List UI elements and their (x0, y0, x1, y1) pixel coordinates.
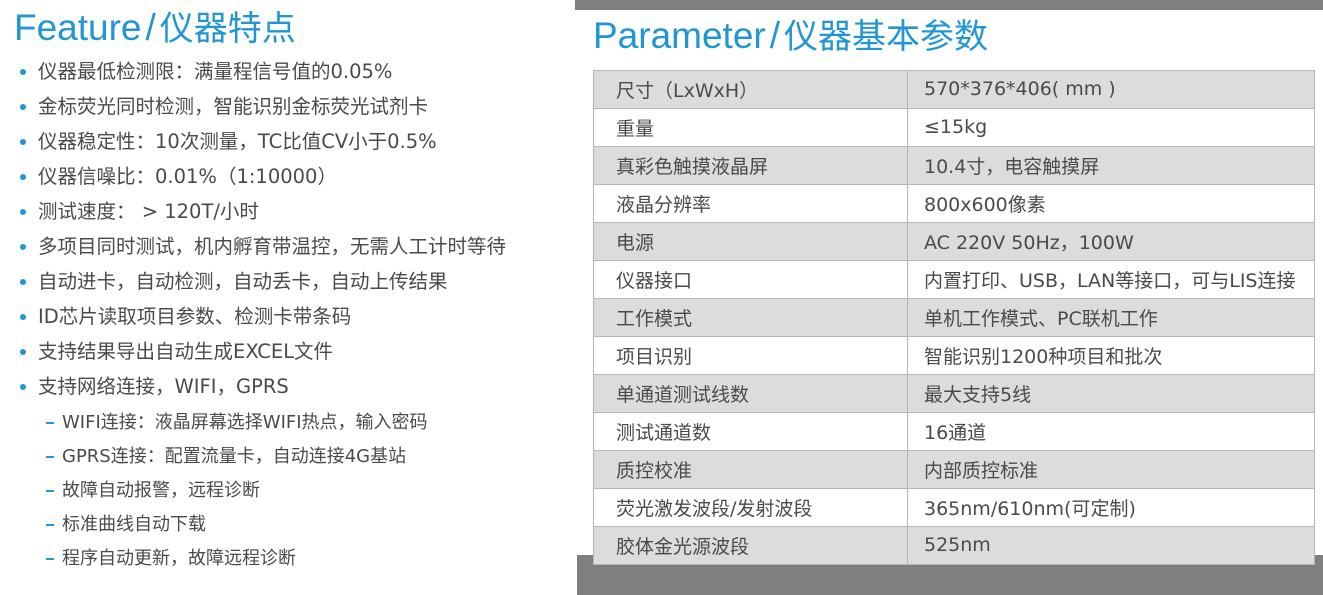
table-row: 质控校准 内部质控标准 (594, 450, 1315, 488)
bullet-dash-icon (46, 558, 54, 560)
table-cell-key: 液晶分辨率 (594, 184, 908, 222)
table-cell-key: 项目识别 (594, 336, 908, 374)
table-cell-value: 单机工作模式、PC联机工作 (908, 298, 1315, 336)
sub-list-item-label: WIFI连接：液晶屏幕选择WIFI热点，输入密码 (62, 412, 428, 433)
table-cell-key: 测试通道数 (594, 412, 908, 450)
bullet-dot-icon (20, 314, 26, 320)
bullet-dash-icon (46, 422, 54, 424)
sub-list-item-label: GPRS连接：配置流量卡，自动连接4G基站 (62, 446, 406, 467)
table-cell-value: 最大支持5线 (908, 374, 1315, 412)
list-item-label: 自动进卡，自动检测，自动丢卡，自动上传结果 (38, 270, 448, 293)
parameter-title-separator: / (766, 15, 784, 56)
table-cell-key: 荧光激发波段/发射波段 (594, 488, 908, 526)
table-cell-key: 胶体金光源波段 (594, 526, 908, 564)
table-row: 胶体金光源波段 525nm (594, 526, 1315, 564)
list-item-label: 仪器稳定性：10次测量，TC比值CV小于0.5% (38, 130, 437, 153)
list-item: 自动进卡，自动检测，自动丢卡，自动上传结果 (14, 266, 575, 297)
table-cell-value: 内部质控标准 (908, 450, 1315, 488)
table-row: 项目识别 智能识别1200种项目和批次 (594, 336, 1315, 374)
bullet-dot-icon (20, 69, 26, 75)
table-row: 工作模式 单机工作模式、PC联机工作 (594, 298, 1315, 336)
feature-title-cn: 仪器特点 (160, 9, 296, 49)
parameter-title-en: Parameter (593, 15, 766, 56)
table-row: 仪器接口 内置打印、USB，LAN等接口，可与LIS连接 (594, 260, 1315, 298)
sub-list-item-label: 程序自动更新，故障远程诊断 (62, 548, 296, 569)
slide-root: Feature/仪器特点 仪器最低检测限：满量程信号值的0.05% 金标荧光同时… (0, 0, 1323, 595)
list-item: 金标荧光同时检测，智能识别金标荧光试剂卡 (14, 91, 575, 122)
table-cell-key: 尺寸（LxWxH） (594, 70, 908, 108)
sub-list-item-label: 故障自动报警，远程诊断 (62, 480, 260, 501)
table-cell-value: 525nm (908, 526, 1315, 564)
table-row: 单通道测试线数 最大支持5线 (594, 374, 1315, 412)
bullet-dot-icon (20, 174, 26, 180)
table-cell-key: 仪器接口 (594, 260, 908, 298)
list-item-label: ID芯片读取项目参数、检测卡带条码 (38, 305, 351, 328)
list-item: 支持结果导出自动生成EXCEL文件 (14, 336, 575, 367)
list-item-label: 支持网络连接，WIFI，GPRS (38, 375, 289, 398)
table-cell-value: 内置打印、USB，LAN等接口，可与LIS连接 (908, 260, 1315, 298)
feature-title-en: Feature (14, 7, 142, 48)
list-item-label: 仪器信噪比：0.01%（1:10000） (38, 165, 337, 188)
sub-list-item: 标准曲线自动下载 (14, 510, 575, 540)
table-cell-key: 工作模式 (594, 298, 908, 336)
table-cell-value: 10.4寸，电容触摸屏 (908, 146, 1315, 184)
table-cell-key: 电源 (594, 222, 908, 260)
parameter-panel: Parameter/仪器基本参数 尺寸（LxWxH） 570*376*406( … (575, 10, 1323, 555)
table-cell-key: 质控校准 (594, 450, 908, 488)
bullet-dot-icon (20, 209, 26, 215)
table-row: 荧光激发波段/发射波段 365nm/610nm(可定制) (594, 488, 1315, 526)
parameter-table: 尺寸（LxWxH） 570*376*406( mm ) 重量 ≤15kg 真彩色… (593, 70, 1315, 565)
table-cell-value: ≤15kg (908, 108, 1315, 146)
table-cell-key: 单通道测试线数 (594, 374, 908, 412)
list-item: 仪器最低检测限：满量程信号值的0.05% (14, 56, 575, 87)
table-row: 液晶分辨率 800x600像素 (594, 184, 1315, 222)
list-item-label: 多项目同时测试，机内孵育带温控，无需人工计时等待 (38, 235, 506, 258)
table-cell-key: 重量 (594, 108, 908, 146)
bullet-dot-icon (20, 104, 26, 110)
list-item: 测试速度： > 120T/小时 (14, 196, 575, 227)
sub-list-item: GPRS连接：配置流量卡，自动连接4G基站 (14, 442, 575, 472)
sub-list-item: 程序自动更新，故障远程诊断 (14, 544, 575, 574)
bullet-dot-icon (20, 349, 26, 355)
bullet-dot-icon (20, 139, 26, 145)
feature-title-separator: / (142, 7, 160, 48)
table-cell-value: 16通道 (908, 412, 1315, 450)
feature-sub-list: WIFI连接：液晶屏幕选择WIFI热点，输入密码 GPRS连接：配置流量卡，自动… (14, 408, 575, 574)
list-item-label: 金标荧光同时检测，智能识别金标荧光试剂卡 (38, 95, 428, 118)
feature-panel-title: Feature/仪器特点 (14, 6, 575, 50)
list-item-label: 支持结果导出自动生成EXCEL文件 (38, 340, 333, 363)
feature-list: 仪器最低检测限：满量程信号值的0.05% 金标荧光同时检测，智能识别金标荧光试剂… (14, 56, 575, 402)
table-row: 电源 AC 220V 50Hz，100W (594, 222, 1315, 260)
list-item: ID芯片读取项目参数、检测卡带条码 (14, 301, 575, 332)
feature-panel: Feature/仪器特点 仪器最低检测限：满量程信号值的0.05% 金标荧光同时… (0, 0, 575, 595)
bullet-dash-icon (46, 490, 54, 492)
bullet-dot-icon (20, 279, 26, 285)
bullet-dot-icon (20, 244, 26, 250)
table-row: 尺寸（LxWxH） 570*376*406( mm ) (594, 70, 1315, 108)
table-cell-value: AC 220V 50Hz，100W (908, 222, 1315, 260)
table-cell-key: 真彩色触摸液晶屏 (594, 146, 908, 184)
list-item-label: 测试速度： > 120T/小时 (38, 200, 259, 223)
table-row: 测试通道数 16通道 (594, 412, 1315, 450)
list-item: 仪器稳定性：10次测量，TC比值CV小于0.5% (14, 126, 575, 157)
decorative-bar-top (575, 0, 1323, 10)
table-cell-value: 智能识别1200种项目和批次 (908, 336, 1315, 374)
list-item: 仪器信噪比：0.01%（1:10000） (14, 161, 575, 192)
table-cell-value: 570*376*406( mm ) (908, 70, 1315, 108)
bullet-dash-icon (46, 524, 54, 526)
list-item: 多项目同时测试，机内孵育带温控，无需人工计时等待 (14, 231, 575, 262)
table-cell-value: 365nm/610nm(可定制) (908, 488, 1315, 526)
table-row: 重量 ≤15kg (594, 108, 1315, 146)
bullet-dot-icon (20, 384, 26, 390)
sub-list-item-label: 标准曲线自动下载 (62, 514, 206, 535)
sub-list-item: WIFI连接：液晶屏幕选择WIFI热点，输入密码 (14, 408, 575, 438)
table-cell-value: 800x600像素 (908, 184, 1315, 222)
parameter-panel-title: Parameter/仪器基本参数 (593, 14, 1313, 58)
parameter-title-cn: 仪器基本参数 (784, 17, 988, 57)
table-row: 真彩色触摸液晶屏 10.4寸，电容触摸屏 (594, 146, 1315, 184)
list-item-label: 仪器最低检测限：满量程信号值的0.05% (38, 60, 392, 83)
sub-list-item: 故障自动报警，远程诊断 (14, 476, 575, 506)
bullet-dash-icon (46, 456, 54, 458)
list-item: 支持网络连接，WIFI，GPRS (14, 371, 575, 402)
